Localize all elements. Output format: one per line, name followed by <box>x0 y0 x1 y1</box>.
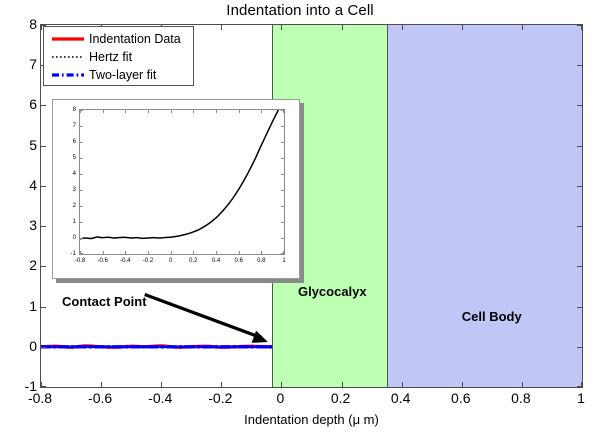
y-tick-label: 1 <box>3 298 37 314</box>
inset-y-tick-label: 7 <box>60 123 76 129</box>
y-tick <box>577 347 582 348</box>
y-tick-label: 5 <box>3 137 37 153</box>
region-label-glycocalyx: Glycocalyx <box>298 284 367 299</box>
y-tick <box>577 146 582 147</box>
inset-x-tick-label: 0.8 <box>257 258 265 264</box>
x-tick <box>101 382 102 387</box>
inset-y-tick <box>281 142 284 143</box>
y-tick <box>41 226 46 227</box>
legend-swatch-solid-line <box>50 32 86 46</box>
legend-item-indentation-data: Indentation Data <box>44 30 193 48</box>
y-tick <box>41 347 46 348</box>
inset-x-tick <box>239 251 240 254</box>
x-tick <box>281 25 282 30</box>
x-tick <box>161 382 162 387</box>
y-tick <box>41 146 46 147</box>
inset-y-tick <box>80 253 83 254</box>
inset-y-tick <box>80 158 83 159</box>
x-tick-label: -0.8 <box>28 390 52 406</box>
inset-y-tick <box>281 206 284 207</box>
inset-y-tick-label: 6 <box>60 139 76 145</box>
chart-root: Indentation into a Cell GlycocalyxCell B… <box>0 0 600 435</box>
inset-x-tick <box>216 110 217 113</box>
inset-curve <box>80 110 284 254</box>
x-tick <box>342 382 343 387</box>
inset-y-tick <box>281 253 284 254</box>
x-tick <box>281 382 282 387</box>
x-tick-label: -0.2 <box>208 390 232 406</box>
inset-x-tick-label: 0 <box>169 258 172 264</box>
inset-x-tick-label: -0.2 <box>143 258 153 264</box>
inset-x-tick <box>261 110 262 113</box>
inset-x-tick <box>125 110 126 113</box>
x-tick <box>462 382 463 387</box>
x-tick-label: 0.4 <box>391 390 410 406</box>
x-tick-label: 0.8 <box>511 390 530 406</box>
chart-title: Indentation into a Cell <box>0 2 600 19</box>
inset-x-tick <box>148 110 149 113</box>
region-boundary-line <box>387 25 388 387</box>
inset-y-tick <box>80 174 83 175</box>
x-tick-label: 1 <box>577 390 585 406</box>
region-cell-body <box>387 25 582 387</box>
inset-x-tick <box>103 110 104 113</box>
inset-x-tick <box>216 251 217 254</box>
x-axis-title: Indentation depth (μ m) <box>40 412 583 427</box>
y-tick <box>577 105 582 106</box>
y-tick <box>41 386 46 387</box>
y-tick <box>41 266 46 267</box>
inset-y-tick <box>281 238 284 239</box>
y-tick-label: 7 <box>3 56 37 72</box>
legend-swatch-dotted-line <box>50 50 86 64</box>
inset-plot-area <box>79 109 285 255</box>
inset-y-tick-label: 4 <box>60 171 76 177</box>
x-tick-label: 0.2 <box>331 390 350 406</box>
y-tick <box>577 266 582 267</box>
region-label-cell-body: Cell Body <box>462 309 522 324</box>
inset-y-tick-label: 0 <box>60 235 76 241</box>
legend-swatch-dashdot-line <box>50 68 86 82</box>
x-tick-label: 0.6 <box>451 390 470 406</box>
legend-label: Indentation Data <box>89 32 181 46</box>
x-tick-label: 0 <box>277 390 285 406</box>
inset-y-tick <box>281 222 284 223</box>
inset-y-tick <box>281 126 284 127</box>
inset-y-tick <box>281 158 284 159</box>
inset-y-tick <box>281 110 284 111</box>
y-tick <box>577 186 582 187</box>
inset-y-tick-label: 3 <box>60 187 76 193</box>
inset-y-tick-label: -1 <box>60 251 76 257</box>
inset-x-tick <box>148 251 149 254</box>
y-tick-label: 0 <box>3 338 37 354</box>
inset-x-tick-label: 0.6 <box>234 258 242 264</box>
y-tick <box>577 386 582 387</box>
inset-y-tick <box>80 238 83 239</box>
inset-x-tick <box>193 251 194 254</box>
inset-x-tick-label: -0.6 <box>97 258 107 264</box>
x-tick <box>342 25 343 30</box>
inset-x-tick <box>125 251 126 254</box>
inset-x-tick <box>103 251 104 254</box>
x-tick <box>221 382 222 387</box>
inset-curve-raw <box>80 110 278 239</box>
inset-y-tick-label: 1 <box>60 219 76 225</box>
x-tick <box>402 382 403 387</box>
x-tick-label: -0.4 <box>148 390 172 406</box>
inset-x-tick <box>171 110 172 113</box>
y-tick <box>41 105 46 106</box>
inset-x-tick <box>193 110 194 113</box>
legend-label: Hertz fit <box>89 50 132 64</box>
x-tick-label: -0.6 <box>88 390 112 406</box>
y-tick-label: 2 <box>3 257 37 273</box>
inset-x-tick <box>261 251 262 254</box>
x-tick <box>221 25 222 30</box>
annotation-contact-point: Contact Point <box>62 294 147 309</box>
inset-y-tick <box>80 126 83 127</box>
inset-x-tick-label: 1 <box>282 258 285 264</box>
inset-y-tick-label: 5 <box>60 155 76 161</box>
legend-label: Two-layer fit <box>89 68 156 82</box>
inset-y-tick <box>281 174 284 175</box>
y-tick-label: 4 <box>3 177 37 193</box>
inset-x-tick <box>239 110 240 113</box>
inset-x-tick <box>171 251 172 254</box>
y-tick <box>577 65 582 66</box>
inset-y-tick <box>80 206 83 207</box>
inset-y-tick <box>281 190 284 191</box>
y-tick-label: 3 <box>3 217 37 233</box>
x-tick <box>402 25 403 30</box>
y-tick <box>41 307 46 308</box>
y-tick-label: 8 <box>3 16 37 32</box>
inset-x-tick-label: -0.4 <box>120 258 130 264</box>
x-tick <box>522 382 523 387</box>
x-tick <box>522 25 523 30</box>
y-tick <box>577 226 582 227</box>
inset-y-tick <box>80 142 83 143</box>
y-tick <box>577 307 582 308</box>
legend: Indentation Data Hertz fit Two-layer fit <box>43 26 194 86</box>
inset-y-tick <box>80 222 83 223</box>
inset-x-tick-label: 0.4 <box>212 258 220 264</box>
inset-panel: -1012345678 -0.8-0.6-0.4-0.200.20.40.60.… <box>52 99 300 279</box>
x-tick <box>462 25 463 30</box>
inset-x-tick-label: -0.8 <box>75 258 85 264</box>
legend-item-hertz-fit: Hertz fit <box>44 48 193 66</box>
inset-y-tick-label: 8 <box>60 107 76 113</box>
legend-item-two-layer-fit: Two-layer fit <box>44 66 193 84</box>
inset-y-tick <box>80 110 83 111</box>
inset-x-tick-label: 0.2 <box>189 258 197 264</box>
y-tick <box>41 186 46 187</box>
inset-y-tick <box>80 190 83 191</box>
y-tick-label: 6 <box>3 96 37 112</box>
inset-y-tick-label: 2 <box>60 203 76 209</box>
y-tick <box>577 25 582 26</box>
